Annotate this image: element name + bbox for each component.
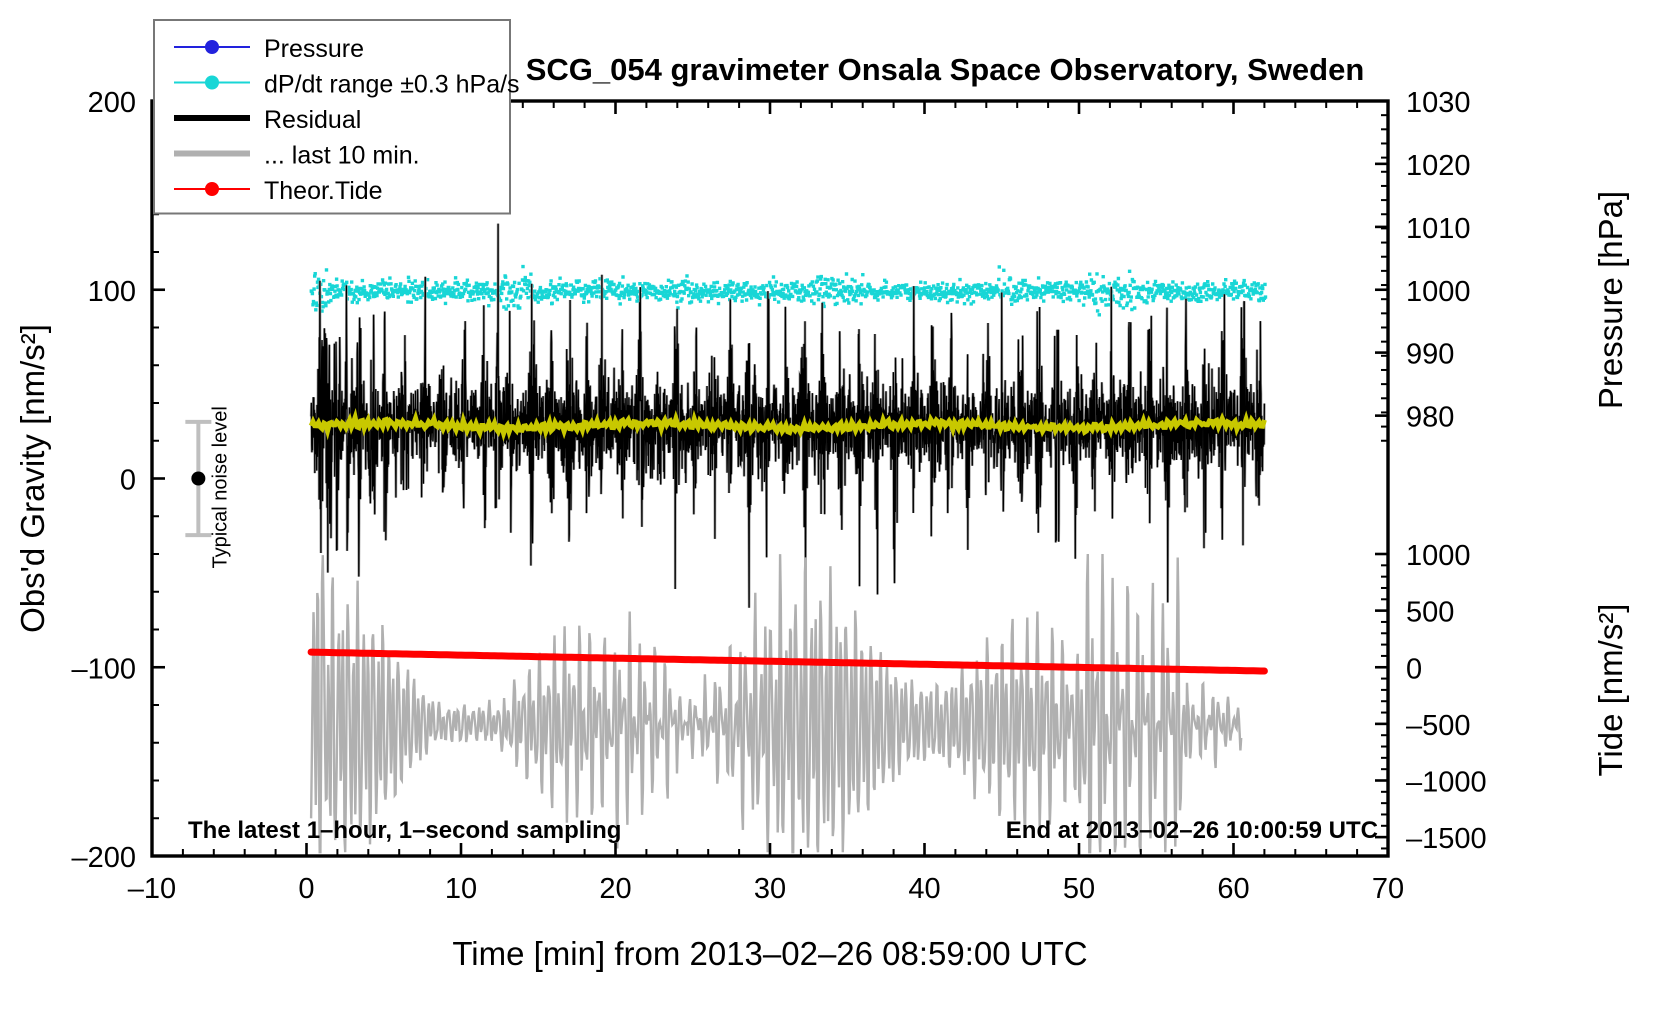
y-axis-pressure-label: Pressure [hPa] [1592,191,1629,409]
legend-label: Theor.Tide [264,177,383,205]
x-axis-label: Time [min] from 2013–02–26 08:59:00 UTC [452,935,1087,972]
legend-label: dP/dt range ±0.3 hPa/s [264,71,520,99]
y-right-tide-tick-label: 1000 [1406,540,1471,572]
legend-marker-dot [205,40,219,54]
last-10-min-series [311,554,1241,852]
y-axis-tide-label: Tide [nm/s²] [1592,604,1629,777]
x-tick-label: 30 [754,873,786,905]
y-left-tick-label: –200 [71,842,136,874]
noise-level-label: Typical noise level [209,406,231,568]
y-right-pressure-tick-label: 1010 [1406,213,1471,245]
y-left-tick-label: 0 [120,465,136,497]
noise-center-dot [191,472,205,486]
x-tick-label: 10 [445,873,477,905]
y-left-tick-label: 100 [88,276,136,308]
plot-title: SCG_054 gravimeter Onsala Space Observat… [526,52,1365,87]
x-tick-label: 20 [599,873,631,905]
y-right-tide-tick-label: –500 [1406,710,1471,742]
noise-marker: Typical noise level [185,406,231,568]
end-time-annotation: End at 2013–02–26 10:00:59 UTC [1006,817,1378,844]
y-right-tide-tick-label: 500 [1406,597,1454,629]
legend-label: Pressure [264,35,364,63]
x-tick-label: 60 [1217,873,1249,905]
x-tick-label: 40 [908,873,940,905]
y-right-pressure-tick-label: 980 [1406,402,1454,434]
y-left-tick-label: –100 [71,653,136,685]
y-right-tide-tick-label: 0 [1406,653,1422,685]
x-tick-label: 50 [1063,873,1095,905]
legend-label: Residual [264,106,361,134]
legend-label: ... last 10 min. [264,142,420,170]
y-left-tick-label: 200 [88,87,136,119]
x-tick-label: –10 [128,873,176,905]
legend[interactable]: PressuredP/dt range ±0.3 hPa/sResidual..… [154,20,520,214]
legend-marker-dot [205,76,219,90]
y-axis-left-label: Obs'd Gravity [nm/s²] [14,324,51,633]
y-right-pressure-tick-label: 990 [1406,339,1454,371]
chart-canvas: –100102030405060702001000–100–2001030102… [0,0,1660,1020]
plot-traces [310,224,1268,853]
y-right-tide-tick-label: –1500 [1406,823,1487,855]
x-tick-label: 0 [298,873,314,905]
x-tick-label: 70 [1372,873,1404,905]
y-right-pressure-tick-label: 1030 [1406,87,1471,119]
gravimeter-plot: –100102030405060702001000–100–2001030102… [0,0,1660,1020]
dpdt-scatter-series [310,265,1268,317]
y-right-tide-tick-label: –1000 [1406,767,1487,799]
y-right-pressure-tick-label: 1020 [1406,150,1471,182]
y-right-pressure-tick-label: 1000 [1406,276,1471,308]
legend-marker-dot [205,182,219,196]
sampling-annotation: The latest 1–hour, 1–second sampling [188,817,621,844]
